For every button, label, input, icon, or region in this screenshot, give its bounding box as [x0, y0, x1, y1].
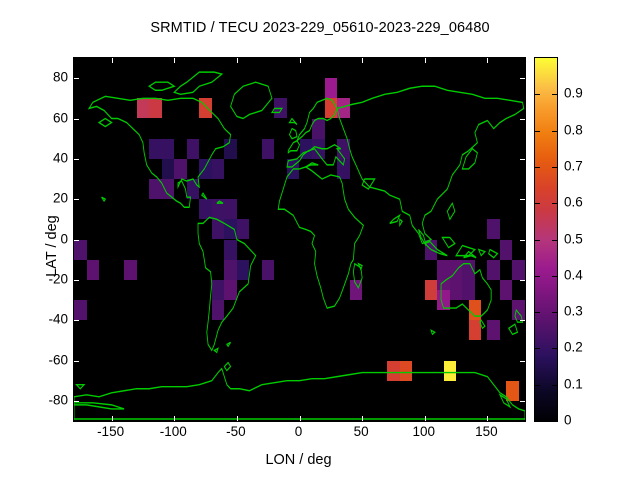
x-axis-tick [112, 416, 113, 421]
colorbar-tick-label: 0.9 [564, 86, 583, 101]
colorbar-tick [552, 167, 557, 168]
colorbar-tick [535, 421, 540, 422]
x-axis-tick-label: 0 [295, 424, 303, 439]
y-axis-tick [520, 361, 525, 362]
y-axis-tick [74, 361, 79, 362]
colorbar[interactable] [534, 57, 558, 422]
x-axis-tick [487, 58, 488, 63]
colorbar-tick [552, 421, 557, 422]
x-axis-tick [112, 58, 113, 63]
y-axis-tick [74, 320, 79, 321]
x-axis-tick [425, 58, 426, 63]
colorbar-tick [535, 94, 540, 95]
colorbar-tick [535, 312, 540, 313]
colorbar-tick-label: 0.7 [564, 158, 583, 173]
colorbar-tick-label: 0.5 [564, 231, 583, 246]
colorbar-tick-label: 0.1 [564, 376, 583, 391]
y-axis-tick [74, 78, 79, 79]
colorbar-tick-label: 0.6 [564, 195, 583, 210]
y-axis-tick [74, 401, 79, 402]
x-axis-tick-label: 100 [413, 424, 436, 439]
colorbar-tick [535, 131, 540, 132]
colorbar-tick-label: 0.2 [564, 340, 583, 355]
colorbar-tick [552, 276, 557, 277]
y-axis-tick-label: 80 [53, 70, 68, 85]
y-axis-tick-label: -20 [48, 271, 68, 286]
y-axis-tick-label: 40 [53, 150, 68, 165]
colorbar-tick [535, 203, 540, 204]
colorbar-tick-label: 0.3 [564, 304, 583, 319]
y-axis-tick [520, 159, 525, 160]
x-axis-tick [300, 416, 301, 421]
x-axis-tick-label: 50 [354, 424, 369, 439]
y-axis-tick [520, 119, 525, 120]
y-axis-tick [74, 240, 79, 241]
x-axis-tick-label: -150 [97, 424, 124, 439]
x-axis-tick [487, 416, 488, 421]
x-axis-title: LON / deg [73, 452, 524, 468]
colorbar-tick [535, 348, 540, 349]
y-axis-tick [520, 280, 525, 281]
x-axis-tick [237, 416, 238, 421]
y-axis-tick [520, 78, 525, 79]
y-axis-tick [520, 240, 525, 241]
x-axis-tick-label: -100 [160, 424, 187, 439]
colorbar-tick [552, 131, 557, 132]
x-axis-tick [300, 58, 301, 63]
y-axis-tick [74, 159, 79, 160]
y-axis-tick-label: -80 [48, 392, 68, 407]
y-axis-tick-label: 0 [60, 231, 68, 246]
page-title: SRMTID / TECU 2023-229_05610-2023-229_06… [0, 20, 640, 36]
colorbar-tick [535, 240, 540, 241]
colorbar-tick [552, 203, 557, 204]
x-axis-tick-label: 150 [475, 424, 498, 439]
y-axis-tick-label: -40 [48, 312, 68, 327]
y-axis-tick [520, 401, 525, 402]
colorbar-tick [552, 385, 557, 386]
x-axis-tick [362, 416, 363, 421]
colorbar-tick [552, 348, 557, 349]
axis-ticks-layer [74, 58, 525, 421]
x-axis-tick [362, 58, 363, 63]
colorbar-tick-label: 0 [564, 413, 572, 428]
x-axis-tick [237, 58, 238, 63]
y-axis-tick-label: 60 [53, 110, 68, 125]
map-plot-area[interactable] [73, 57, 526, 422]
colorbar-tick [535, 167, 540, 168]
colorbar-tick [535, 276, 540, 277]
y-axis-tick-label: -60 [48, 352, 68, 367]
colorbar-tick [552, 94, 557, 95]
colorbar-tick [552, 240, 557, 241]
y-axis-tick [520, 199, 525, 200]
x-axis-tick [174, 58, 175, 63]
figure-canvas: SRMTID / TECU 2023-229_05610-2023-229_06… [0, 0, 640, 480]
colorbar-tick [552, 312, 557, 313]
x-axis-tick-label: -50 [226, 424, 246, 439]
y-axis-tick [74, 199, 79, 200]
x-axis-tick [425, 416, 426, 421]
colorbar-tick [535, 385, 540, 386]
y-axis-tick [74, 280, 79, 281]
y-axis-tick [520, 320, 525, 321]
x-axis-tick [174, 416, 175, 421]
y-axis-tick [74, 119, 79, 120]
y-axis-tick-label: 20 [53, 191, 68, 206]
colorbar-tick-label: 0.4 [564, 267, 583, 282]
colorbar-tick-label: 0.8 [564, 122, 583, 137]
